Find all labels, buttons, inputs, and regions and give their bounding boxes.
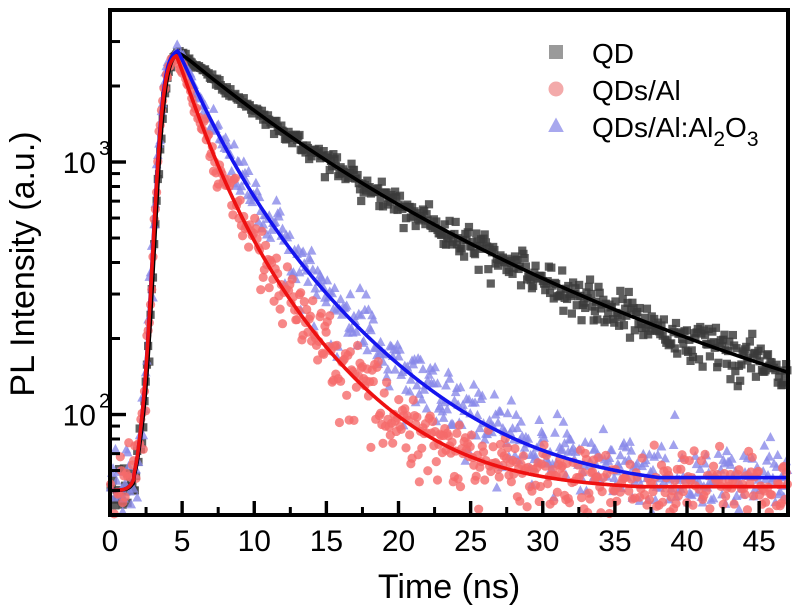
data-point xyxy=(578,468,587,477)
data-point xyxy=(288,275,297,284)
data-point xyxy=(586,275,594,283)
data-point xyxy=(581,304,589,312)
y-tick-label-base: 10 xyxy=(63,400,96,433)
data-point xyxy=(730,499,739,508)
data-point xyxy=(559,307,567,315)
data-point xyxy=(325,311,334,320)
data-point xyxy=(346,347,355,356)
data-point xyxy=(484,265,492,273)
data-point xyxy=(455,421,464,430)
data-point xyxy=(767,490,776,499)
x-tick-label: 10 xyxy=(238,525,271,558)
data-point xyxy=(412,412,421,421)
data-point xyxy=(660,315,668,323)
data-point xyxy=(577,316,585,324)
data-point xyxy=(709,462,718,471)
x-tick-label: 35 xyxy=(598,525,631,558)
data-point xyxy=(300,297,309,306)
data-point xyxy=(458,244,466,252)
data-point xyxy=(428,417,437,426)
data-point xyxy=(690,446,699,455)
legend-label: QDs/Al xyxy=(592,75,681,106)
data-point xyxy=(645,495,654,504)
data-point xyxy=(231,174,240,183)
data-point xyxy=(296,288,305,297)
data-point xyxy=(585,283,593,291)
data-point xyxy=(276,304,285,313)
data-point xyxy=(761,498,770,507)
data-point xyxy=(452,429,461,438)
data-point xyxy=(261,241,270,250)
data-point xyxy=(676,465,685,474)
data-point xyxy=(479,448,488,457)
data-point xyxy=(672,319,680,327)
data-point xyxy=(467,430,476,439)
data-point xyxy=(510,444,519,453)
data-point xyxy=(740,490,749,499)
y-axis-title: PL Intensity (a.u.) xyxy=(4,131,42,396)
data-point xyxy=(729,331,737,339)
y-tick-label-exponent: 2 xyxy=(99,391,110,413)
data-point xyxy=(378,178,386,186)
data-point xyxy=(611,297,619,305)
data-point xyxy=(472,472,481,481)
x-tick-label: 45 xyxy=(742,525,775,558)
data-point xyxy=(529,282,537,290)
x-tick-label: 0 xyxy=(102,525,119,558)
data-point xyxy=(256,285,265,294)
data-point xyxy=(746,337,754,345)
data-point xyxy=(353,341,362,350)
data-point xyxy=(349,416,358,425)
data-point xyxy=(643,305,651,313)
data-point xyxy=(712,324,720,332)
data-point xyxy=(400,224,408,232)
x-tick-label: 15 xyxy=(310,525,343,558)
x-tick-label: 5 xyxy=(174,525,191,558)
data-point xyxy=(283,262,292,271)
data-point xyxy=(465,223,473,231)
data-point xyxy=(625,460,634,469)
data-point xyxy=(357,197,365,205)
data-point xyxy=(396,192,404,200)
data-point xyxy=(721,492,730,501)
data-point xyxy=(405,430,414,439)
data-point xyxy=(575,281,583,289)
legend-marker-square-icon xyxy=(549,45,563,59)
data-point xyxy=(699,363,707,371)
data-point xyxy=(764,350,772,358)
data-point xyxy=(598,487,607,496)
data-point xyxy=(734,465,743,474)
data-point xyxy=(565,498,574,507)
data-point xyxy=(650,441,659,450)
data-point xyxy=(366,443,375,452)
data-point xyxy=(272,254,281,263)
data-point xyxy=(409,395,418,404)
data-point xyxy=(317,309,326,318)
data-point xyxy=(688,501,697,510)
data-point xyxy=(695,355,703,363)
data-point xyxy=(308,296,317,305)
data-point xyxy=(705,504,714,513)
data-point xyxy=(474,505,483,514)
data-point xyxy=(333,153,341,161)
x-tick-label: 20 xyxy=(382,525,415,558)
data-point xyxy=(265,283,274,292)
data-point xyxy=(726,375,734,383)
data-point xyxy=(616,287,624,295)
data-point xyxy=(601,451,610,460)
data-point xyxy=(432,457,441,466)
data-point xyxy=(374,357,383,366)
data-point xyxy=(487,279,495,287)
data-point xyxy=(715,442,724,451)
data-point xyxy=(332,341,341,350)
data-point xyxy=(456,482,465,491)
data-point xyxy=(382,378,391,387)
data-point xyxy=(335,418,344,427)
data-point xyxy=(495,472,504,481)
data-point xyxy=(620,321,628,329)
data-point xyxy=(700,450,709,459)
data-point xyxy=(417,444,426,453)
y-tick-label-base: 10 xyxy=(63,147,96,180)
data-point xyxy=(342,391,351,400)
data-point xyxy=(378,439,387,448)
data-point xyxy=(475,266,483,274)
data-point xyxy=(380,388,389,397)
legend-label: QD xyxy=(592,38,634,69)
data-point xyxy=(452,218,460,226)
data-point xyxy=(121,492,130,501)
data-point xyxy=(754,467,763,476)
legend-marker-circle-icon xyxy=(549,82,564,97)
data-point xyxy=(425,200,433,208)
data-point xyxy=(531,262,539,270)
data-point xyxy=(415,477,424,486)
data-point xyxy=(481,230,489,238)
data-point xyxy=(748,453,757,462)
data-point xyxy=(295,131,303,139)
data-point xyxy=(673,350,681,358)
data-point xyxy=(306,312,315,321)
data-point xyxy=(244,242,253,251)
data-point xyxy=(369,377,378,386)
data-point xyxy=(423,466,432,475)
data-point xyxy=(593,315,601,323)
data-point xyxy=(278,319,287,328)
plot-canvas: 051015202530354045102103 QDQDs/AlQDs/Al:… xyxy=(0,0,800,612)
data-point xyxy=(714,359,722,367)
data-point xyxy=(394,395,403,404)
data-point xyxy=(376,409,385,418)
data-point xyxy=(471,250,479,258)
x-tick-label: 30 xyxy=(526,525,559,558)
data-point xyxy=(519,451,528,460)
data-point xyxy=(460,253,468,261)
data-point xyxy=(522,502,531,511)
data-point xyxy=(683,326,691,334)
data-point xyxy=(585,494,594,503)
data-point xyxy=(466,442,475,451)
data-point xyxy=(507,477,516,486)
pl-decay-figure: 051015202530354045102103 QDQDs/AlQDs/Al:… xyxy=(0,0,800,612)
data-point xyxy=(626,334,634,342)
data-point xyxy=(743,505,752,514)
data-point xyxy=(596,289,604,297)
data-point xyxy=(257,227,266,236)
data-point xyxy=(515,497,524,506)
data-point xyxy=(706,352,714,360)
x-tick-label: 25 xyxy=(454,525,487,558)
data-point xyxy=(547,264,555,272)
data-point xyxy=(558,266,566,274)
data-point xyxy=(685,456,694,465)
x-tick-label: 40 xyxy=(670,525,703,558)
x-axis-title: Time (ns) xyxy=(378,568,520,606)
data-point xyxy=(638,453,647,462)
data-point xyxy=(658,498,667,507)
data-point xyxy=(388,439,397,448)
data-point xyxy=(250,214,259,223)
data-point xyxy=(549,496,558,505)
data-point xyxy=(747,364,755,372)
data-point xyxy=(453,474,462,483)
data-point xyxy=(568,310,576,318)
data-point xyxy=(616,488,625,497)
data-point xyxy=(321,173,329,181)
data-point xyxy=(736,377,744,385)
data-point xyxy=(322,328,331,337)
data-point xyxy=(636,304,644,312)
data-point xyxy=(480,475,489,484)
data-point xyxy=(433,475,442,484)
data-point xyxy=(401,443,410,452)
data-point xyxy=(397,425,406,434)
data-point xyxy=(336,377,345,386)
data-point xyxy=(521,254,529,262)
data-point xyxy=(748,330,756,338)
data-point xyxy=(625,288,633,296)
y-tick-label-exponent: 3 xyxy=(99,138,110,160)
